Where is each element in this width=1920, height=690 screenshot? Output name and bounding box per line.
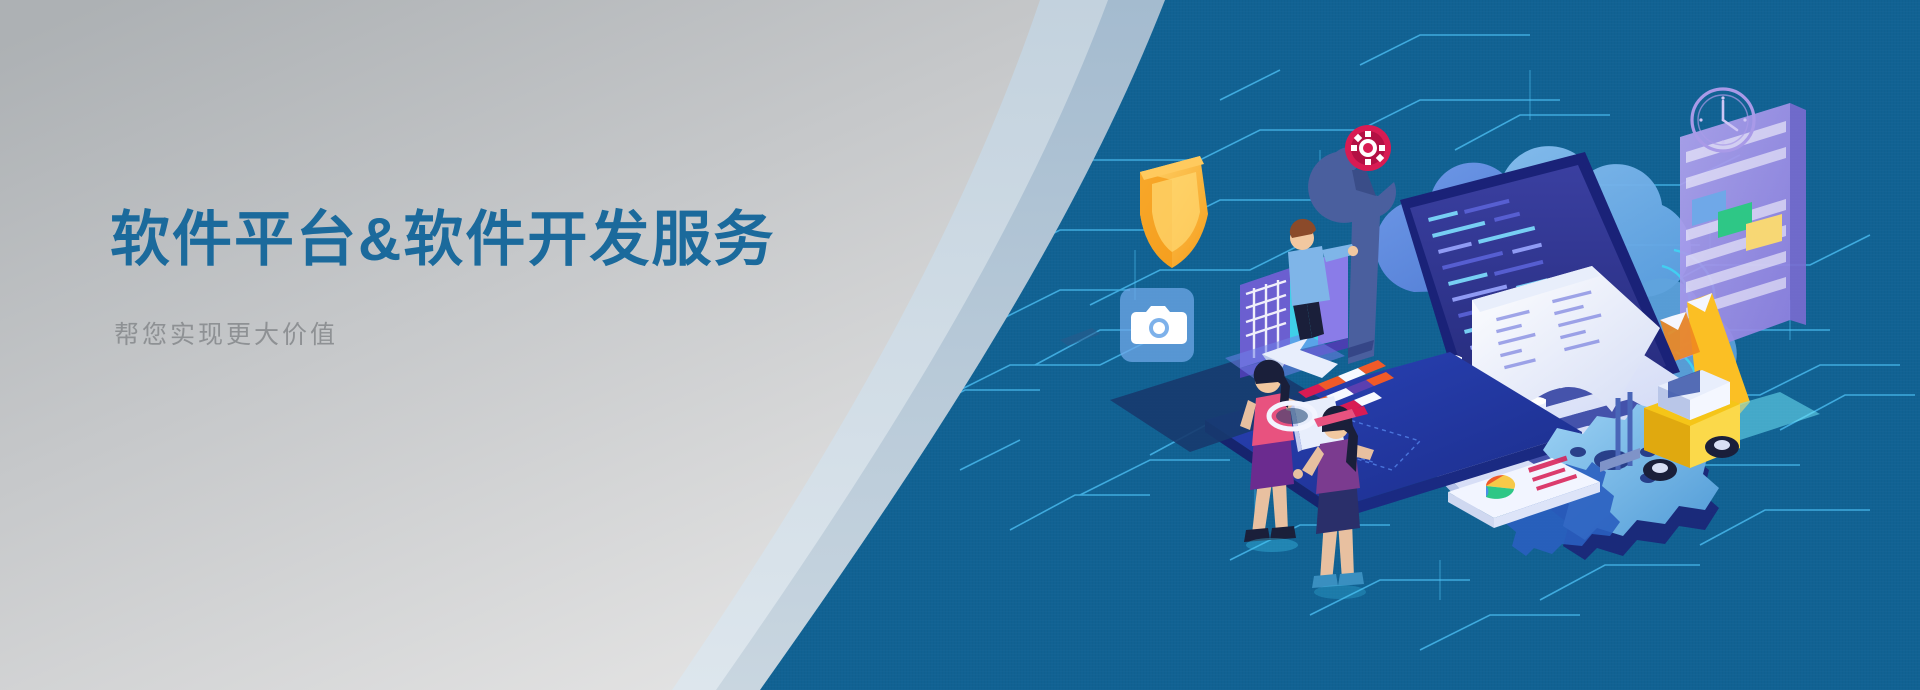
page-title: 软件平台&软件开发服务: [110, 205, 870, 274]
hero-text-block: 软件平台&软件开发服务 帮您实现更大价值: [110, 205, 870, 350]
page-subtitle: 帮您实现更大价值: [114, 320, 870, 350]
hero-banner: 软件平台&软件开发服务 帮您实现更大价值: [0, 0, 1920, 690]
